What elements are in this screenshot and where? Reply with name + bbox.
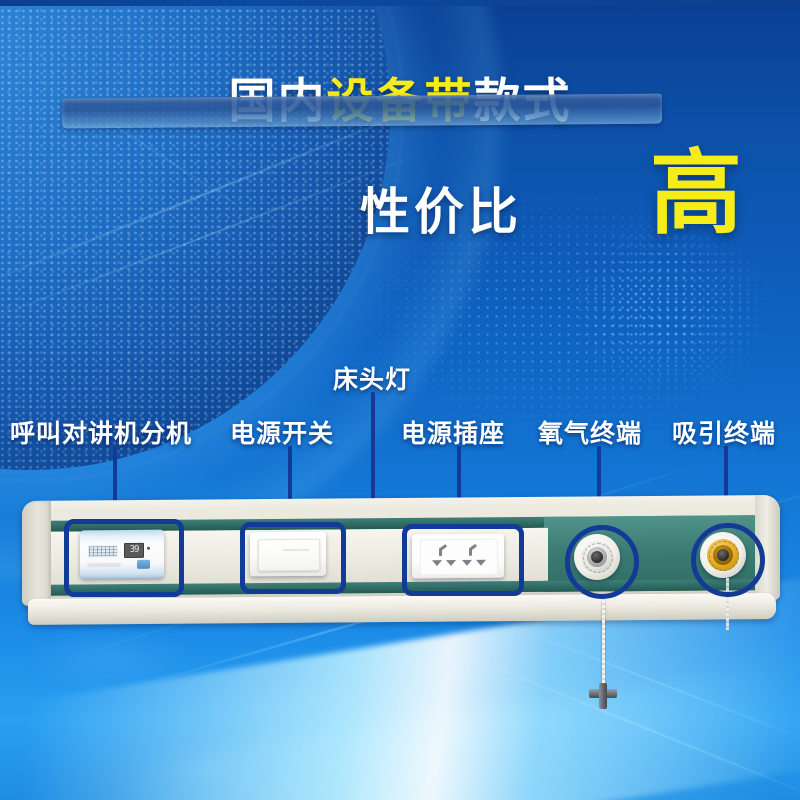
callout-label-socket: 电源插座 [401, 414, 505, 450]
pull-cord-weight[interactable] [589, 683, 617, 709]
headline-line-2: 性价比 [360, 172, 522, 244]
poster-canvas: 国内设备带款式 性价比 高 呼叫对讲机分机 电源开关 床头灯 电源插座 氧气终端… [0, 0, 800, 800]
highlight-circle-oxygen [565, 525, 639, 599]
bed-lamp-diffuser[interactable] [62, 94, 662, 129]
top-edge-bar [0, 0, 800, 6]
panel-end-cap-left [22, 501, 51, 606]
headline-emphasis: 高 [650, 148, 742, 240]
highlight-circle-suction [691, 523, 765, 597]
panel-lower-rail [28, 593, 776, 625]
callout-label-switch: 电源开关 [230, 414, 334, 450]
pull-cord[interactable] [602, 600, 605, 688]
highlight-box-socket [402, 524, 524, 596]
callout-label-intercom: 呼叫对讲机分机 [10, 414, 192, 450]
highlight-box-intercom [64, 519, 184, 597]
pull-cord-weight-stem [599, 683, 607, 709]
callout-label-oxygen: 氧气终端 [538, 414, 642, 450]
highlight-box-switch [240, 522, 346, 594]
callout-label-bed-lamp: 床头灯 [333, 360, 411, 396]
callout-label-suction: 吸引终端 [672, 414, 776, 450]
